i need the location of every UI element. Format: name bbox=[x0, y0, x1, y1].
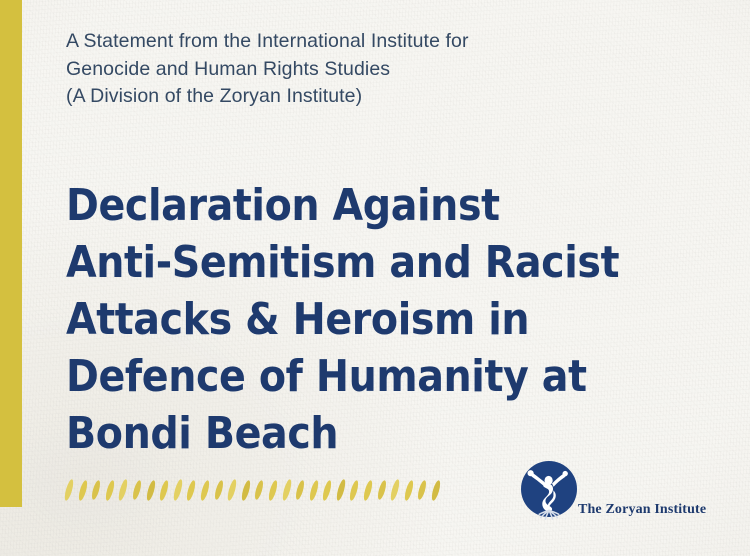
dash-mark bbox=[158, 479, 170, 501]
dash-mark bbox=[322, 479, 334, 501]
poster-canvas: A Statement from the International Insti… bbox=[0, 0, 750, 556]
eyebrow-line-3: (A Division of the Zoryan Institute) bbox=[66, 83, 666, 111]
dash-mark bbox=[131, 480, 142, 501]
slanted-dash-divider-icon bbox=[66, 476, 466, 504]
dash-mark bbox=[417, 480, 428, 501]
dash-mark bbox=[226, 479, 238, 502]
gold-accent-bar bbox=[0, 0, 22, 507]
dash-mark bbox=[294, 480, 305, 501]
headline-line-3: Attacks & Heroism in bbox=[66, 291, 666, 348]
dash-mark bbox=[240, 479, 252, 501]
dash-mark bbox=[199, 479, 211, 501]
dash-mark bbox=[63, 479, 75, 502]
dash-mark bbox=[77, 479, 89, 501]
zoryan-institute-figure-in-circle-icon bbox=[516, 458, 582, 524]
eyebrow-statement: A Statement from the International Insti… bbox=[66, 28, 666, 111]
dash-mark bbox=[335, 479, 347, 502]
headline-line-5: Bondi Beach bbox=[66, 405, 666, 462]
dash-mark bbox=[362, 479, 374, 501]
dash-mark bbox=[281, 479, 293, 502]
zoryan-institute-logo: The Zoryan Institute bbox=[516, 458, 726, 542]
eyebrow-line-1: A Statement from the International Insti… bbox=[66, 28, 666, 56]
dash-mark bbox=[186, 479, 198, 501]
headline-line-1: Declaration Against bbox=[66, 177, 666, 234]
dash-mark bbox=[308, 479, 320, 501]
page-title: Declaration Against Anti-Semitism and Ra… bbox=[66, 177, 666, 462]
dash-mark bbox=[213, 480, 224, 501]
logo-wordmark: The Zoryan Institute bbox=[578, 502, 706, 518]
headline-line-4: Defence of Humanity at bbox=[66, 348, 666, 405]
dash-mark bbox=[91, 480, 102, 501]
dash-mark bbox=[117, 479, 129, 502]
dash-mark bbox=[254, 480, 265, 501]
eyebrow-line-2: Genocide and Human Rights Studies bbox=[66, 56, 666, 84]
dash-mark bbox=[145, 479, 157, 501]
dash-mark bbox=[389, 479, 401, 502]
dash-mark bbox=[349, 479, 361, 501]
dash-mark bbox=[403, 479, 415, 501]
dash-mark bbox=[430, 479, 442, 501]
dash-mark bbox=[104, 479, 116, 501]
dash-mark bbox=[376, 480, 387, 501]
dash-mark bbox=[267, 479, 279, 501]
dash-mark bbox=[172, 479, 184, 502]
headline-line-2: Anti-Semitism and Racist bbox=[66, 234, 666, 291]
